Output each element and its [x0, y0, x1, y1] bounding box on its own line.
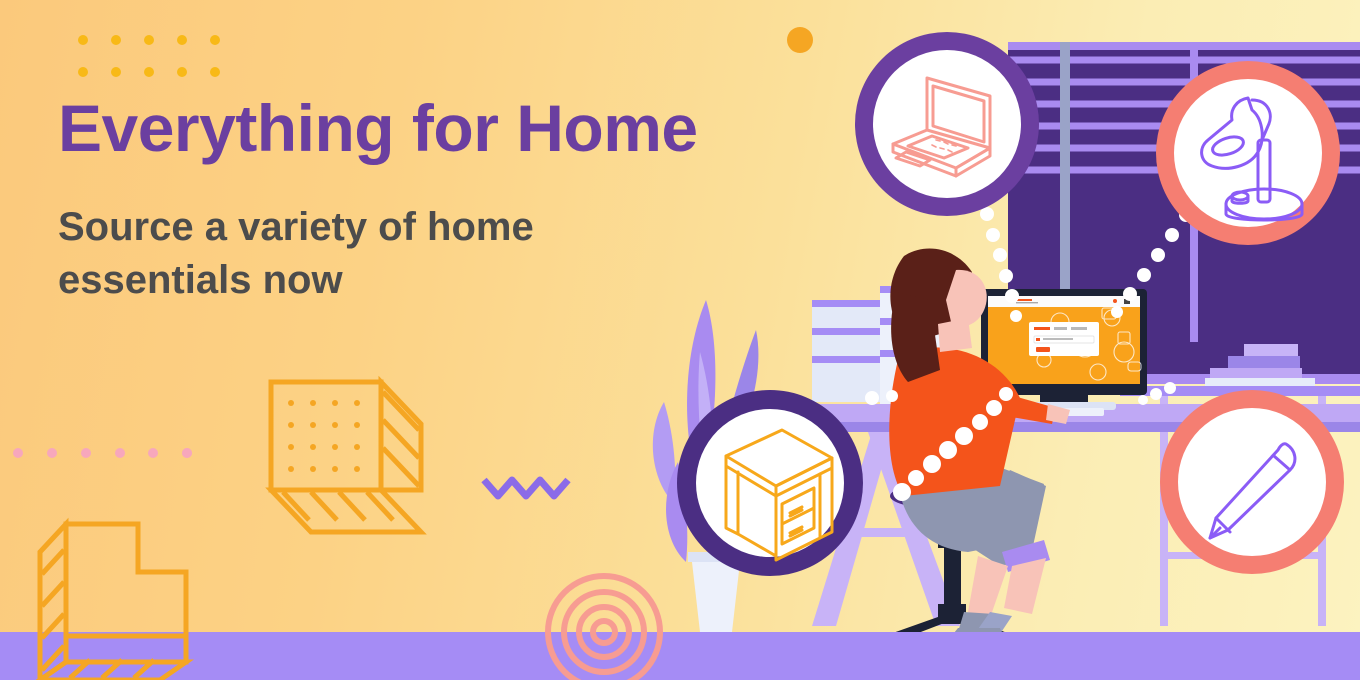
badge-desk-lamp[interactable]	[1156, 61, 1340, 245]
subtitle-line-2: essentials now	[58, 254, 678, 307]
banner-copy: Everything for Home Source a variety of …	[58, 94, 818, 307]
banner-subtitle: Source a variety of home essentials now	[58, 201, 678, 307]
promo-banner: Everything for Home Source a variety of …	[0, 0, 1360, 680]
badge-laptop[interactable]	[855, 32, 1039, 216]
badge-pencil[interactable]	[1160, 390, 1344, 574]
badge-desk[interactable]	[677, 390, 863, 576]
subtitle-line-1: Source a variety of home	[58, 201, 678, 254]
page-title: Everything for Home	[58, 94, 818, 163]
